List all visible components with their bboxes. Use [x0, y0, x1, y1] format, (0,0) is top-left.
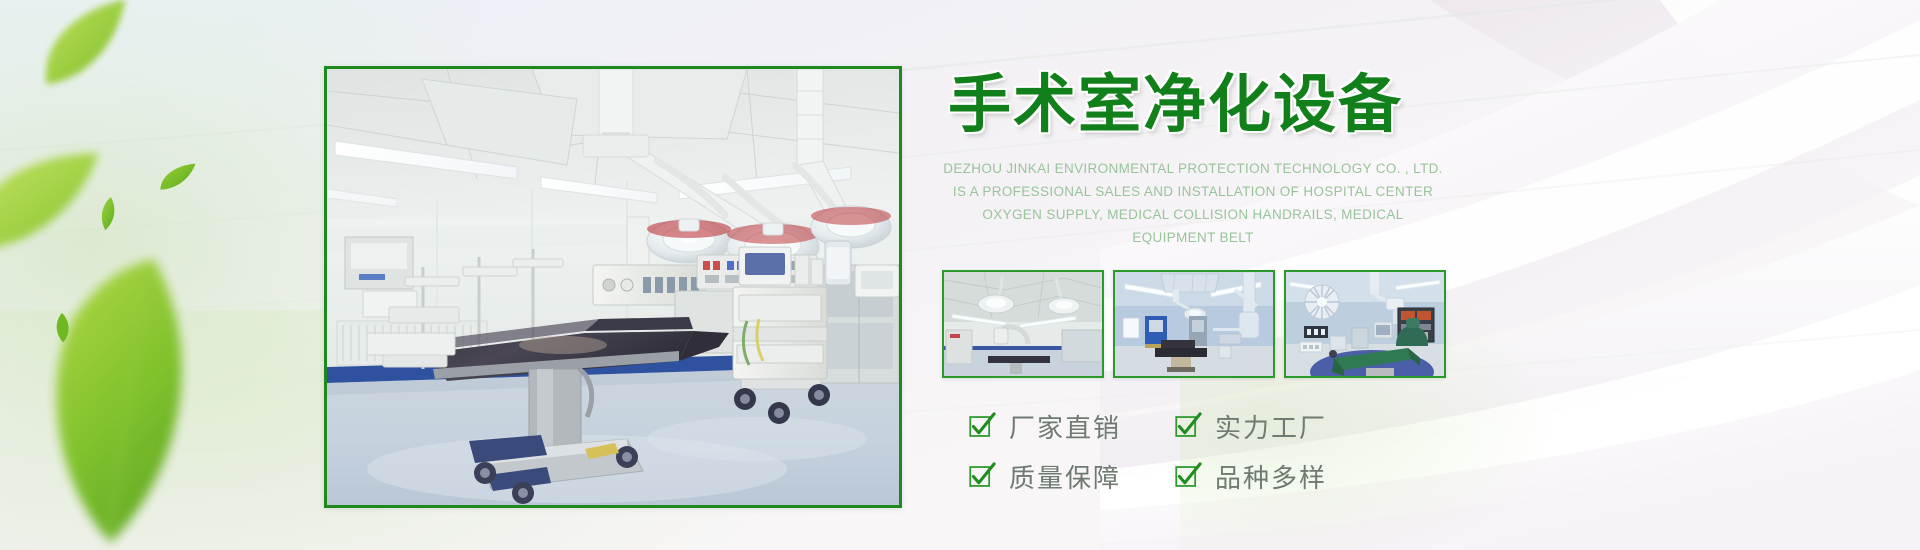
thumbnail-item[interactable]	[1284, 270, 1446, 378]
banner-content: 手术室净化设备 DEZHOU JINKAI ENVIRONMENTAL PROT…	[940, 72, 1500, 508]
thumbnail-item[interactable]	[1113, 270, 1275, 378]
company-subtitle: DEZHOU JINKAI ENVIRONMENTAL PROTECTION T…	[940, 157, 1446, 250]
leaf-icon	[21, 0, 152, 103]
operating-room-thumb-3	[1286, 272, 1444, 376]
check-box-icon	[1174, 413, 1201, 440]
main-product-image[interactable]	[324, 66, 902, 508]
feature-label: 品种多样	[1215, 458, 1327, 495]
leaf-icon	[95, 195, 122, 234]
leaf-icon	[51, 311, 75, 344]
leaf-icon	[0, 232, 251, 550]
check-box-icon	[1174, 463, 1201, 490]
operating-room-thumb-1	[944, 272, 1102, 376]
hero-banner: 手术室净化设备 DEZHOU JINKAI ENVIRONMENTAL PROT…	[0, 0, 1920, 550]
operating-room-photo	[327, 69, 899, 505]
feature-item[interactable]: 质量保障	[968, 458, 1174, 495]
check-box-icon	[968, 413, 995, 440]
page-title: 手术室净化设备	[948, 72, 1500, 139]
leaf-icon	[153, 157, 203, 197]
feature-label: 厂家直销	[1009, 408, 1121, 445]
thumbnail-gallery	[942, 270, 1500, 378]
feature-label: 实力工厂	[1215, 408, 1327, 445]
feature-item[interactable]: 品种多样	[1174, 458, 1380, 495]
check-box-icon	[968, 463, 995, 490]
feature-item[interactable]: 厂家直销	[968, 408, 1174, 445]
thumbnail-item[interactable]	[942, 270, 1104, 378]
feature-item[interactable]: 实力工厂	[1174, 408, 1380, 445]
feature-label: 质量保障	[1009, 458, 1121, 495]
feature-list: 厂家直销 实力工厂 质量保障	[968, 408, 1468, 508]
leaf-icon	[0, 138, 115, 268]
operating-room-thumb-2	[1115, 272, 1273, 376]
